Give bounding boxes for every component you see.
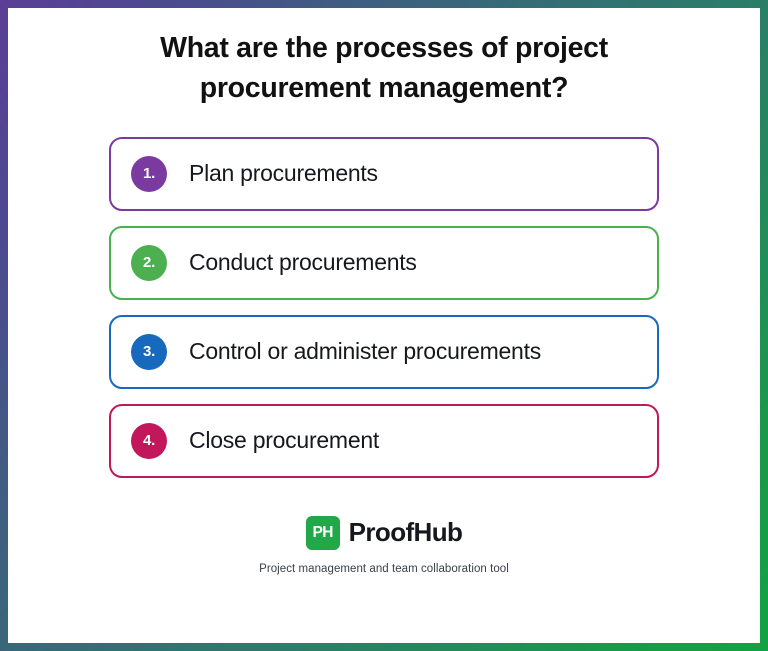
brand-lockup: PH ProofHub xyxy=(306,516,463,550)
page-title-line-2: procurement management? xyxy=(114,68,654,108)
step-label-4: Close procurement xyxy=(189,428,379,453)
process-step-list: 1. Plan procurements 2. Conduct procurem… xyxy=(109,137,659,478)
process-step-3[interactable]: 3. Control or administer procurements xyxy=(109,315,659,389)
step-number-badge-4: 4. xyxy=(131,423,167,459)
process-step-2[interactable]: 2. Conduct procurements xyxy=(109,226,659,300)
process-step-1[interactable]: 1. Plan procurements xyxy=(109,137,659,211)
page-title: What are the processes of project procur… xyxy=(114,28,654,109)
brand-footer: PH ProofHub Project management and team … xyxy=(259,516,509,575)
step-label-2: Conduct procurements xyxy=(189,250,417,275)
brand-name: ProofHub xyxy=(349,517,463,548)
page-title-line-1: What are the processes of project xyxy=(114,28,654,68)
step-number-badge-2: 2. xyxy=(131,245,167,281)
infographic-canvas: What are the processes of project procur… xyxy=(8,8,760,643)
gradient-frame: What are the processes of project procur… xyxy=(0,0,768,651)
process-step-4[interactable]: 4. Close procurement xyxy=(109,404,659,478)
step-label-1: Plan procurements xyxy=(189,161,378,186)
step-label-3: Control or administer procurements xyxy=(189,339,541,364)
step-number-badge-1: 1. xyxy=(131,156,167,192)
step-number-badge-3: 3. xyxy=(131,334,167,370)
brand-tagline: Project management and team collaboratio… xyxy=(259,563,509,575)
proofhub-logo-icon: PH xyxy=(306,516,340,550)
